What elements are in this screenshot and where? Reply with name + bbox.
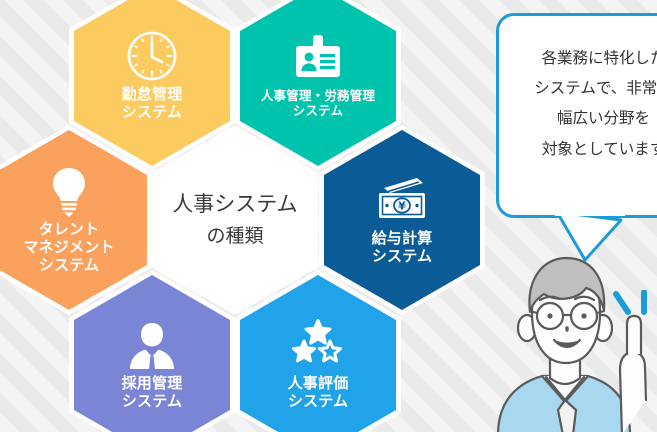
person-suit-icon — [126, 319, 178, 371]
businessman-illustration — [470, 250, 657, 432]
center-hexagon-label: 人事システムの種類 — [172, 191, 297, 250]
svg-text:¥: ¥ — [398, 199, 406, 212]
hexagon-label-talent-management: タレント マネジメント システム — [23, 221, 114, 276]
money-icon: ¥ — [376, 174, 428, 226]
center-hexagon-line2: の種類 — [172, 224, 297, 250]
speech-bubble: 各業務に特化した システムで、非常に 幅広い分野を 対象としています — [496, 13, 657, 218]
lightbulb-icon — [43, 165, 95, 217]
sparkle-lines — [612, 290, 657, 326]
stars-icon — [292, 319, 344, 371]
hexagon-label-payroll: 給与計算 システム — [372, 230, 433, 267]
hexagon-label-hr-labor: 人事管理・労務管理 システム — [261, 89, 375, 120]
hexagon-label-recruitment: 採用管理 システム — [122, 375, 183, 412]
hexagon-label-attendance: 勤怠管理 システム — [122, 86, 183, 123]
speech-bubble-text: 各業務に特化した システムで、非常に 幅広い分野を 対象としています — [499, 44, 657, 165]
id-card-icon — [292, 33, 344, 85]
center-hexagon-line1: 人事システム — [172, 191, 297, 219]
hexagon-label-evaluation: 人事評価 システム — [288, 375, 349, 412]
clock-icon — [126, 30, 178, 82]
infographic-canvas: 人事システムの種類 勤怠管理 システム 人事管理・労務管理 システム タレント … — [0, 0, 657, 432]
